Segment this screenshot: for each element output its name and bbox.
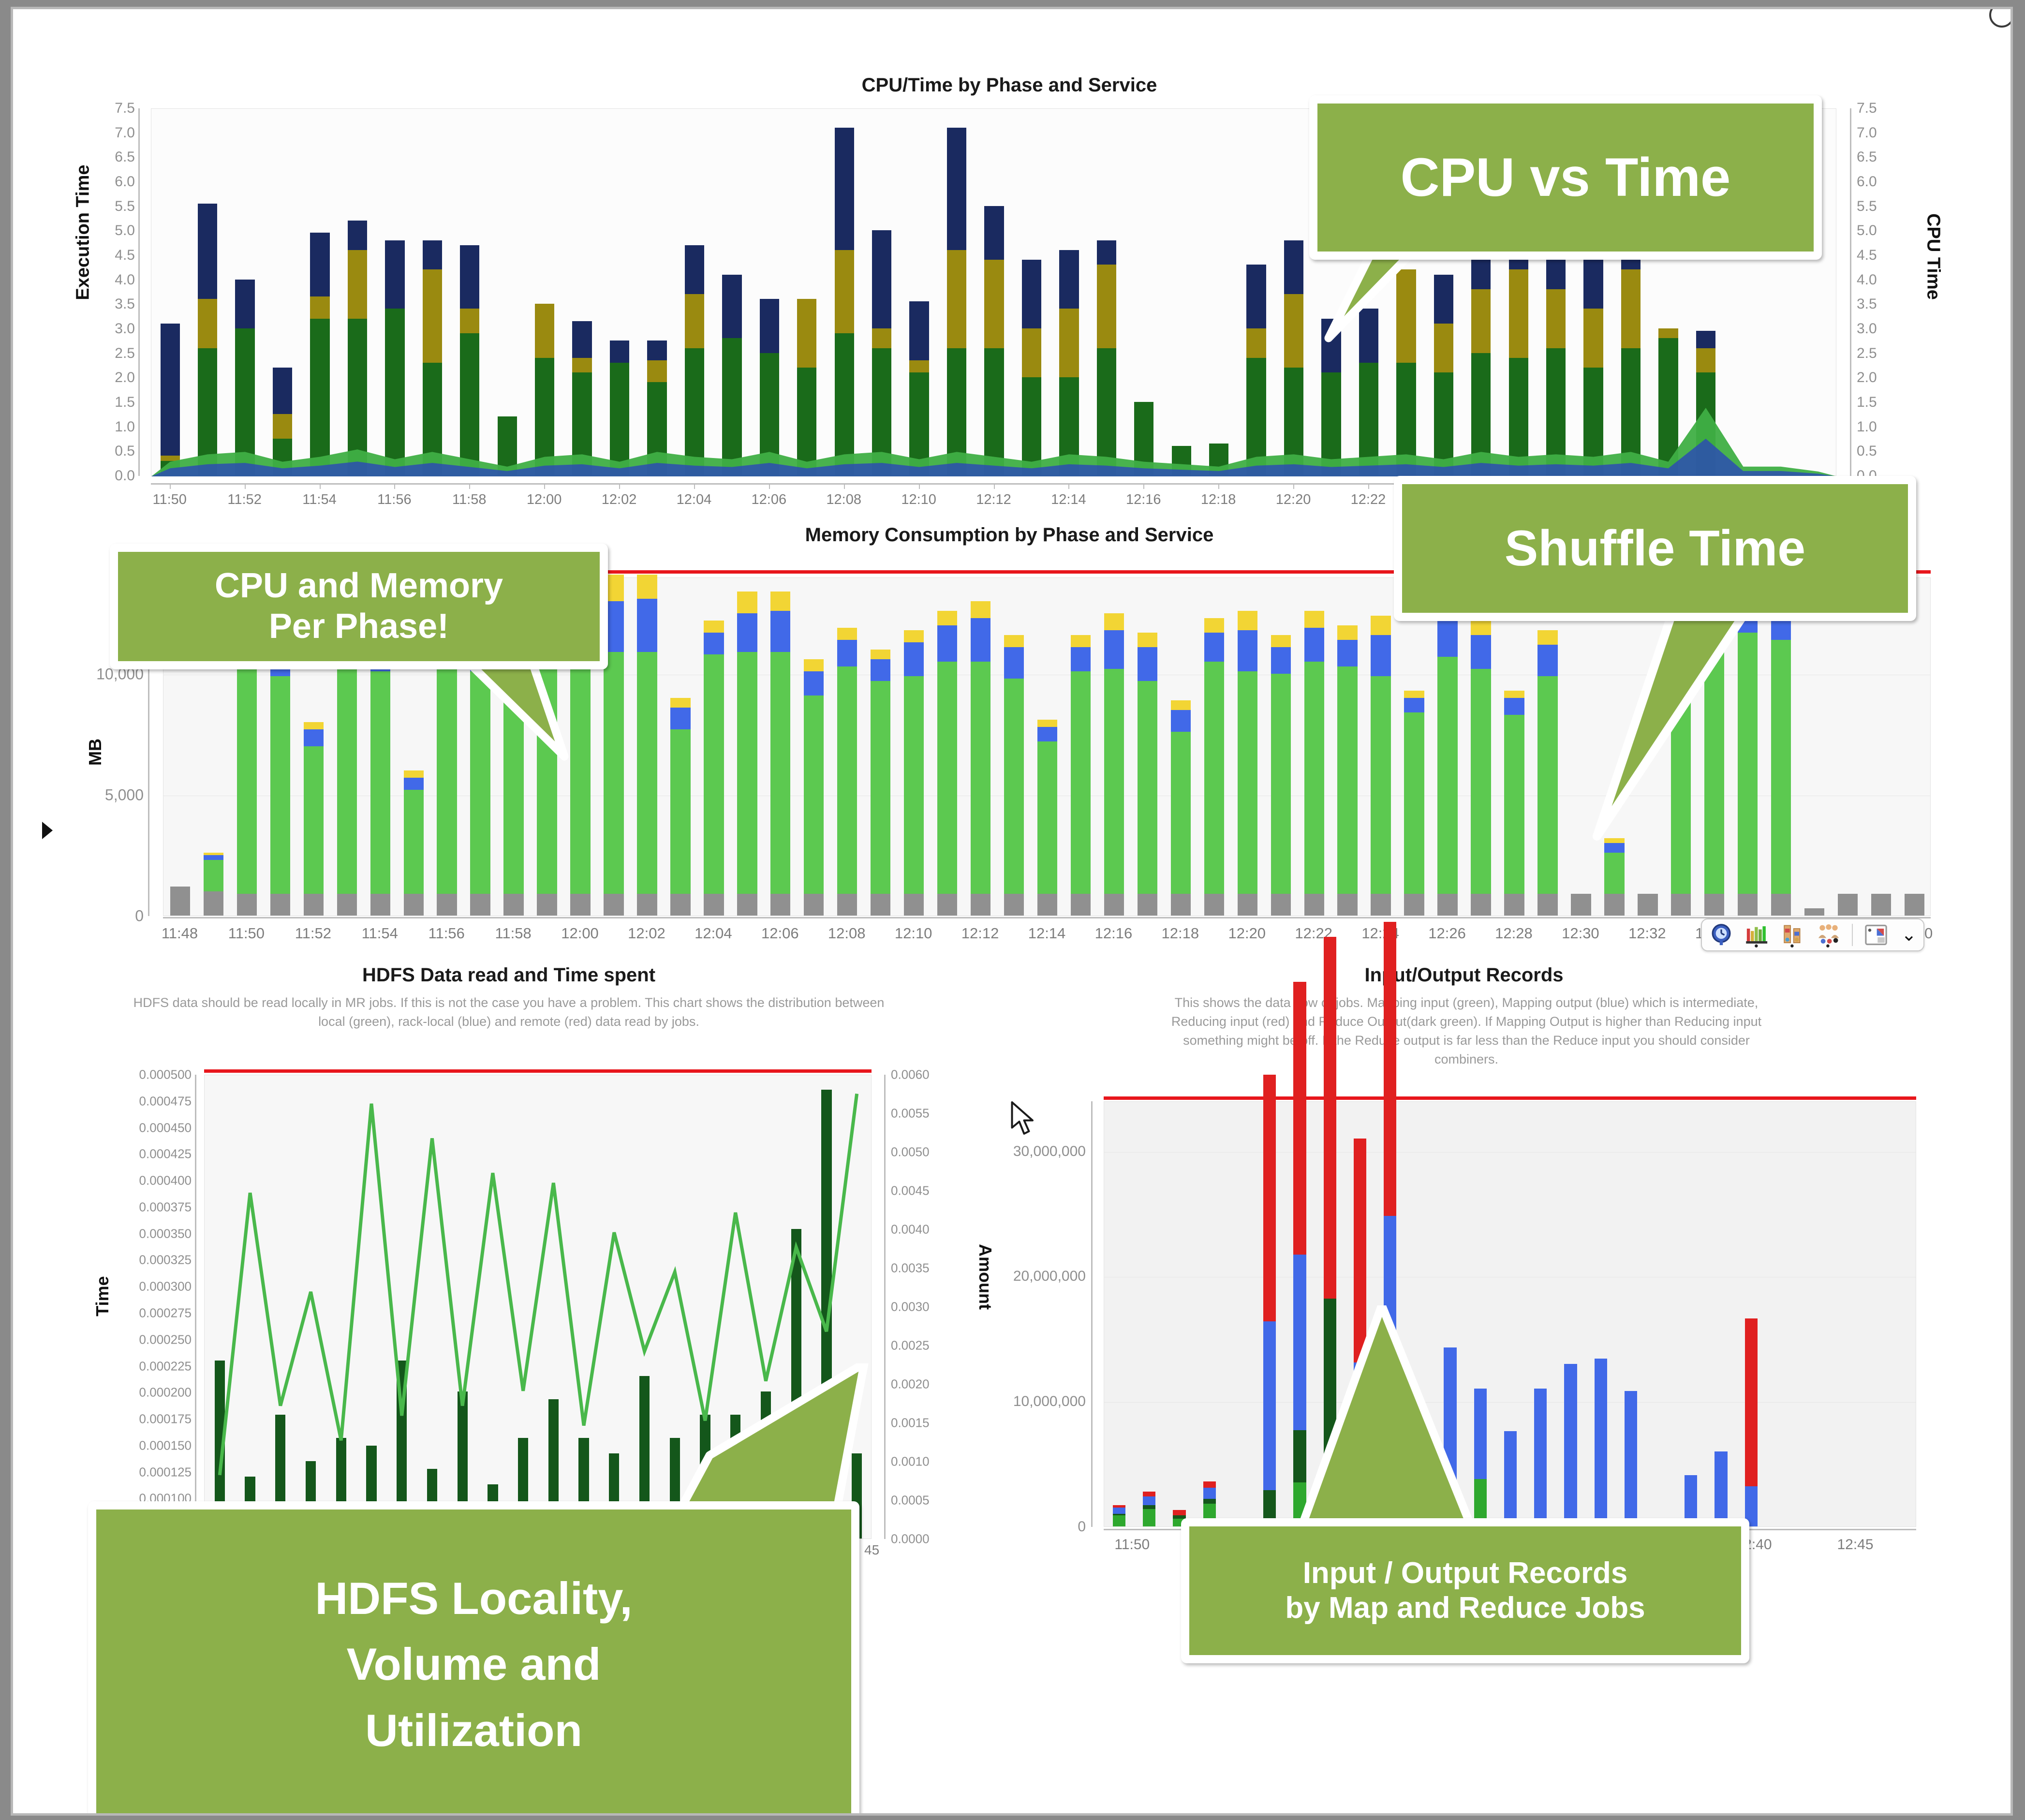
table-row[interactable] — [1263, 1075, 1276, 1526]
bar-segment — [1304, 662, 1324, 894]
mouse-cursor — [1008, 1100, 1037, 1139]
shuffle-time-callout-text: Shuffle Time — [1402, 484, 1908, 613]
io-records-chart-title: Input/Output Records — [1005, 964, 1923, 986]
y-axis-tick: 6.0 — [1857, 174, 1914, 190]
x-axis-tick: 11:48 — [162, 925, 198, 942]
bar-segment — [1404, 698, 1424, 712]
table-row[interactable] — [304, 722, 324, 916]
bar-segment — [1138, 633, 1157, 647]
bar-segment — [704, 621, 724, 633]
bar-segment — [1071, 647, 1091, 671]
bar-segment — [737, 652, 757, 894]
bar-segment — [1171, 894, 1191, 916]
table-row[interactable] — [937, 611, 957, 916]
bar-segment — [1504, 698, 1524, 715]
x-axis-tick: 12:32 — [1628, 925, 1666, 942]
bar-segment — [1745, 1318, 1758, 1486]
x-axis-tick: 12:10 — [895, 925, 932, 942]
hdfs-alert-line — [204, 1069, 872, 1073]
bar-segment — [1004, 647, 1024, 679]
y-axis-tick: 0.000200 — [139, 1385, 192, 1400]
bar-segment — [1437, 894, 1457, 916]
bar-segment — [370, 894, 390, 916]
bar-segment — [1171, 700, 1191, 710]
bar-segment — [1143, 1505, 1155, 1509]
bar-segment — [1171, 732, 1191, 894]
bar-segment — [904, 630, 924, 642]
bar-segment — [1471, 894, 1491, 916]
bar-segment — [971, 601, 990, 618]
bar-segment — [1371, 616, 1390, 635]
x-axis-tick: 12:16 — [1095, 925, 1133, 942]
bar-segment — [1337, 640, 1357, 666]
bar-segment — [837, 666, 857, 894]
x-axis-tick: 12:04 — [677, 492, 712, 508]
shuffle-time-callout[interactable]: Shuffle Time — [1394, 476, 1916, 621]
y-axis-tick: 4.5 — [1857, 247, 1914, 264]
axis-spine — [1091, 1101, 1093, 1527]
table-row[interactable] — [971, 601, 990, 916]
y-axis-tick: 7.5 — [115, 100, 135, 117]
x-axis-tick: 11:54 — [302, 492, 336, 508]
y-axis-tick: 0.000225 — [139, 1359, 192, 1374]
y-axis-tick: 6.5 — [115, 149, 135, 165]
bar-segment — [237, 894, 257, 916]
x-axis-tick: 11:50 — [1114, 1537, 1150, 1553]
table-row[interactable] — [1595, 1359, 1607, 1526]
x-axis-tick: 12:02 — [602, 492, 637, 508]
bar-segment — [1537, 645, 1557, 676]
bar-segment — [1471, 621, 1491, 635]
hdfs-locality-callout[interactable]: HDFS Locality, Volume and Utilization — [88, 1501, 859, 1816]
bar-segment — [337, 894, 357, 916]
bar-segment — [1143, 1496, 1155, 1505]
bar-segment — [1138, 681, 1157, 894]
y-axis-tick: 5,000 — [105, 786, 144, 804]
tick-mark — [1293, 484, 1294, 489]
clock-icon[interactable] — [1709, 922, 1734, 947]
x-axis-tick: 12:12 — [976, 492, 1011, 508]
tick-mark — [1218, 484, 1219, 489]
io-records-callout-text: Input / Output Records by Map and Reduce… — [1189, 1526, 1741, 1655]
bar-segment — [1437, 621, 1457, 657]
y-axis-tick: 3.5 — [115, 296, 135, 312]
bar-segment — [1671, 894, 1691, 916]
bar-segment — [704, 894, 724, 916]
cpu-vs-time-callout-tail — [1319, 246, 1445, 343]
tick-mark — [544, 484, 545, 489]
window-control-button[interactable] — [1989, 7, 2013, 28]
y-axis-tick: 0.0050 — [891, 1145, 954, 1160]
table-row[interactable] — [1504, 1431, 1517, 1526]
table-row[interactable] — [1564, 1364, 1577, 1526]
bar-segment — [537, 894, 557, 916]
toolbar-separator — [1852, 924, 1853, 946]
bar-segment — [404, 790, 424, 894]
io-records-chart-subtitle: This shows the data flow of jobs. Mappin… — [1019, 993, 1914, 1069]
table-row[interactable] — [1804, 908, 1824, 916]
table-row[interactable] — [837, 628, 857, 916]
table-row[interactable] — [1638, 894, 1657, 916]
bar-segment — [304, 894, 324, 916]
y-axis-tick: 0.0045 — [891, 1184, 954, 1199]
bar-segment — [837, 894, 857, 916]
bar-segment — [1715, 1451, 1727, 1526]
table-row[interactable] — [770, 592, 790, 916]
hdfs-yaxis-right: 0.00600.00550.00500.00450.00400.00350.00… — [881, 1075, 954, 1539]
x-axis-tick: 12:06 — [761, 925, 799, 942]
x-axis-tick: 11:56 — [429, 925, 465, 942]
io-records-callout[interactable]: Input / Output Records by Map and Reduce… — [1181, 1518, 1749, 1663]
y-axis-tick: 0.0025 — [891, 1338, 954, 1353]
bar-segment — [1595, 1359, 1607, 1526]
bar-segment — [604, 652, 623, 894]
cpu-time-yaxis-left: 7.57.06.56.05.55.04.54.03.53.02.52.01.51… — [76, 108, 144, 476]
table-row[interactable] — [1104, 613, 1124, 916]
x-axis-tick: 12:00 — [561, 925, 599, 942]
bar-segment — [1004, 894, 1024, 916]
bar-segment — [1404, 691, 1424, 698]
y-axis-tick: 0.000275 — [139, 1305, 192, 1320]
bar-segment — [1537, 630, 1557, 645]
table-row[interactable] — [1071, 635, 1091, 916]
bar-segment — [404, 894, 424, 916]
y-axis-tick: 4.5 — [115, 247, 135, 264]
bar-segment — [170, 887, 190, 916]
bar-segment — [1504, 691, 1524, 698]
bar-segment — [871, 681, 890, 894]
table-row[interactable] — [1437, 604, 1457, 916]
bar-segment — [770, 592, 790, 611]
bar-segment — [837, 640, 857, 666]
x-axis-tick: 11:56 — [377, 492, 411, 508]
table-row[interactable] — [1143, 1492, 1155, 1526]
bar-chart-icon[interactable] — [1744, 922, 1770, 947]
table-row[interactable] — [1504, 691, 1524, 916]
bar-segment — [1238, 630, 1257, 671]
x-axis-tick: 12:00 — [527, 492, 562, 508]
table-row[interactable] — [1337, 625, 1357, 916]
bar-segment — [604, 894, 623, 916]
table-row[interactable] — [1404, 691, 1424, 916]
cpu-vs-time-callout-text: CPU vs Time — [1317, 104, 1814, 252]
io-records-plot-area[interactable] — [1104, 1101, 1916, 1527]
y-axis-tick: 3.0 — [1857, 321, 1914, 337]
bar-segment — [637, 575, 657, 599]
bar-segment — [1037, 741, 1057, 894]
table-row[interactable] — [670, 698, 690, 916]
table-row[interactable] — [204, 853, 223, 916]
x-axis-tick: 11:52 — [295, 925, 331, 942]
bar-segment — [637, 652, 657, 894]
y-axis-tick: 0.000400 — [139, 1173, 192, 1188]
bar-segment — [670, 708, 690, 729]
table-row[interactable] — [704, 621, 724, 916]
bar-segment — [1204, 633, 1224, 662]
bar-segment — [1404, 894, 1424, 916]
table-row[interactable] — [1037, 720, 1057, 916]
bar-segment — [204, 855, 223, 860]
y-axis-tick: 2.5 — [115, 345, 135, 362]
chart-palette-icon[interactable] — [1863, 922, 1889, 947]
io-records-callout-tail — [1280, 1305, 1493, 1538]
axis-spine — [138, 108, 140, 476]
y-axis-tick: 0.0 — [115, 468, 135, 484]
y-axis-tick: 0.000325 — [139, 1253, 192, 1268]
tick-mark — [994, 484, 995, 489]
table-row[interactable] — [1571, 894, 1591, 916]
bar-segment — [1871, 894, 1891, 916]
bar-segment — [937, 662, 957, 894]
table-row[interactable] — [1138, 633, 1157, 916]
y-axis-tick: 1.0 — [115, 419, 135, 435]
table-row[interactable] — [1537, 630, 1557, 916]
bar-segment — [1304, 628, 1324, 662]
table-row[interactable] — [1304, 611, 1324, 916]
bar-segment — [1113, 1505, 1125, 1508]
bar-segment — [637, 894, 657, 916]
gridline — [1104, 1402, 1916, 1403]
y-axis-tick: 10,000,000 — [1013, 1393, 1086, 1410]
bar-segment — [1571, 894, 1591, 916]
table-row[interactable] — [1371, 616, 1390, 916]
bar-segment — [1204, 894, 1224, 916]
table-row[interactable] — [1238, 611, 1257, 916]
x-axis-tick: 12:04 — [695, 925, 732, 942]
y-axis-tick: 0.000500 — [139, 1067, 192, 1082]
table-row[interactable] — [1715, 1451, 1727, 1526]
table-row[interactable] — [737, 592, 757, 916]
tick-mark — [170, 484, 171, 489]
bar-segment — [1534, 1389, 1547, 1526]
bar-segment — [204, 853, 223, 855]
table-row[interactable] — [1004, 635, 1024, 916]
bar-segment — [1238, 611, 1257, 630]
y-axis-tick: 5.5 — [115, 198, 135, 215]
gridline — [1104, 1277, 1916, 1277]
table-row[interactable] — [1871, 894, 1891, 916]
y-axis-tick: 0.000125 — [139, 1465, 192, 1480]
x-axis-tick: 11:58 — [495, 925, 531, 942]
tick-mark — [320, 484, 321, 489]
bar-segment — [1203, 1481, 1216, 1488]
cpu-memory-callout[interactable]: CPU and Memory Per Phase! — [110, 544, 608, 669]
io-records-yaxis: 30,000,00020,000,00010,000,0000 — [968, 1101, 1096, 1527]
bar-segment — [370, 671, 390, 894]
bar-segment — [1104, 669, 1124, 894]
axis-spine — [163, 917, 1931, 918]
table-row[interactable] — [1604, 838, 1624, 916]
bar-segment — [1263, 1321, 1276, 1490]
bar-segment — [1638, 894, 1657, 916]
bar-segment — [1738, 894, 1758, 916]
bar-segment — [270, 676, 290, 894]
bar-segment — [337, 659, 357, 894]
bar-segment — [1037, 894, 1057, 916]
y-axis-tick: 0.0035 — [891, 1261, 954, 1276]
x-axis-tick: 11:50 — [228, 925, 265, 942]
x-axis-tick: 12:20 — [1228, 925, 1266, 942]
tick-mark — [919, 484, 920, 489]
y-axis-tick: 0.000375 — [139, 1199, 192, 1214]
bar-segment — [1804, 908, 1824, 916]
bar-segment — [871, 659, 890, 681]
y-axis-tick: 0.0030 — [891, 1300, 954, 1315]
bar-segment — [1004, 679, 1024, 894]
y-axis-tick: 1.0 — [1857, 419, 1914, 435]
table-row[interactable] — [1471, 621, 1491, 916]
y-axis-tick: 0.0015 — [891, 1416, 954, 1431]
y-axis-tick: 0.0040 — [891, 1222, 954, 1237]
bar-segment — [1143, 1492, 1155, 1496]
y-axis-tick: 0.000150 — [139, 1438, 192, 1453]
table-row[interactable] — [1171, 700, 1191, 916]
bar-segment — [1838, 894, 1858, 916]
y-axis-tick: 2.5 — [1857, 345, 1914, 362]
table-row[interactable] — [871, 650, 890, 916]
cpu-vs-time-callout[interactable]: CPU vs Time — [1309, 95, 1822, 260]
y-axis-tick: 0.0000 — [891, 1532, 954, 1547]
bar-segment — [237, 666, 257, 894]
bar-segment — [1371, 635, 1390, 676]
bar-segment — [1203, 1499, 1216, 1504]
table-row[interactable] — [1204, 618, 1224, 916]
table-row[interactable] — [1838, 894, 1858, 916]
bar-segment — [804, 659, 824, 671]
y-axis-tick: 0.000425 — [139, 1147, 192, 1162]
chart-toolbar[interactable]: ⌄ — [1701, 918, 1924, 951]
scroll-left-arrow[interactable] — [42, 822, 53, 839]
y-axis-tick: 30,000,000 — [1013, 1143, 1086, 1160]
hdfs-chart-title: HDFS Data read and Time spent — [42, 964, 976, 986]
gridline — [1104, 1152, 1916, 1153]
bar-segment — [704, 633, 724, 654]
bar-segment — [1071, 635, 1091, 647]
bar-segment — [1171, 710, 1191, 732]
bar-segment — [1471, 635, 1491, 669]
table-row[interactable] — [804, 659, 824, 916]
y-axis-tick: 0.000350 — [139, 1226, 192, 1241]
table-row[interactable] — [637, 575, 657, 916]
x-axis-tick: 11:50 — [153, 492, 187, 508]
y-axis-tick: 0.0020 — [891, 1377, 954, 1392]
tick-mark — [469, 484, 470, 489]
x-axis-tick: 12:28 — [1495, 925, 1533, 942]
bar-segment — [1238, 671, 1257, 894]
table-row[interactable] — [1271, 635, 1291, 916]
y-axis-tick: 4.0 — [115, 272, 135, 288]
tick-mark — [694, 484, 695, 489]
y-axis-tick: 3.0 — [115, 321, 135, 337]
y-axis-tick: 7.0 — [1857, 125, 1914, 141]
table-row[interactable] — [404, 770, 424, 916]
bar-segment — [804, 671, 824, 695]
table-row[interactable] — [1113, 1505, 1125, 1526]
cpu-time-ylabel-right: CPU Time — [1923, 194, 1944, 320]
table-row[interactable] — [904, 630, 924, 916]
y-axis-tick: 6.5 — [1857, 149, 1914, 165]
bar-segment — [1271, 635, 1291, 647]
bar-segment — [1203, 1488, 1216, 1499]
tick-mark — [844, 484, 845, 489]
bar-segment — [304, 746, 324, 894]
chevron-down-icon[interactable]: ⌄ — [1901, 926, 1917, 944]
bar-segment — [1504, 1431, 1517, 1526]
y-axis-tick: 0 — [1078, 1519, 1086, 1535]
hdfs-chart-subtitle: HDFS data should be read locally in MR j… — [52, 993, 966, 1031]
y-axis-tick: 0.000175 — [139, 1412, 192, 1427]
table-row[interactable] — [1625, 1391, 1637, 1526]
x-axis-tick: 12:26 — [1428, 925, 1466, 942]
y-axis-tick: 1.5 — [115, 394, 135, 411]
x-axis-tick: 12:08 — [826, 492, 861, 508]
axis-spine — [195, 1075, 196, 1539]
bar-segment — [770, 894, 790, 916]
bar-segment — [1293, 982, 1306, 1255]
cpu-time-chart-title: CPU/Time by Phase and Service — [13, 74, 2006, 96]
bar-segment — [1771, 894, 1791, 916]
memory-xaxis: 11:4811:5011:5211:5411:5611:5812:0012:02… — [163, 921, 1931, 943]
tick-mark — [1068, 484, 1069, 489]
x-axis-tick: 12:30 — [1562, 925, 1599, 942]
table-row[interactable] — [1534, 1389, 1547, 1526]
y-axis-tick: 0.5 — [1857, 443, 1914, 459]
bar-segment — [1905, 894, 1924, 916]
tick-mark — [619, 484, 620, 489]
x-axis-tick: 12:14 — [1051, 492, 1086, 508]
bar-segment — [1104, 894, 1124, 916]
x-axis-tick: 12:02 — [628, 925, 665, 942]
people-settings-icon[interactable] — [1816, 922, 1841, 947]
axis-spine — [884, 1075, 886, 1539]
bar-segment — [937, 894, 957, 916]
axis-spine — [1850, 108, 1851, 476]
bar-segment — [837, 628, 857, 640]
bar-segment — [1204, 662, 1224, 894]
y-axis-tick: 0.000475 — [139, 1094, 192, 1109]
bar-segment — [1263, 1075, 1276, 1321]
bar-segment — [1113, 1514, 1125, 1515]
y-axis-tick: 3.5 — [1857, 296, 1914, 312]
table-row[interactable] — [1745, 1318, 1758, 1526]
column-chart-icon[interactable] — [1780, 922, 1805, 947]
y-axis-tick: 0.0005 — [891, 1493, 954, 1508]
x-axis-tick: 11:58 — [452, 492, 486, 508]
x-axis-tick: 11:52 — [227, 492, 261, 508]
table-row[interactable] — [1905, 894, 1924, 916]
y-axis-tick: 5.5 — [1857, 198, 1914, 215]
y-axis-tick: 0 — [135, 907, 144, 925]
dashboard-window: CPU/Time by Phase and Service Execution … — [11, 7, 2013, 1816]
bar-segment — [570, 894, 590, 916]
bar-segment — [1504, 894, 1524, 916]
bar-segment — [971, 662, 990, 894]
bar-segment — [1337, 625, 1357, 640]
bar-segment — [1604, 894, 1624, 916]
x-axis-tick: 12:14 — [1028, 925, 1066, 942]
bar-segment — [1371, 676, 1390, 894]
x-axis-tick: 12:10 — [901, 492, 936, 508]
x-axis-tick: 11:54 — [362, 925, 398, 942]
table-row[interactable] — [170, 887, 190, 916]
bar-segment — [1471, 669, 1491, 894]
bar-segment — [1238, 894, 1257, 916]
y-axis-tick: 0.0010 — [891, 1454, 954, 1469]
bar-segment — [1173, 1510, 1185, 1515]
tick-mark — [769, 484, 770, 489]
bar-segment — [904, 894, 924, 916]
bar-segment — [1138, 894, 1157, 916]
